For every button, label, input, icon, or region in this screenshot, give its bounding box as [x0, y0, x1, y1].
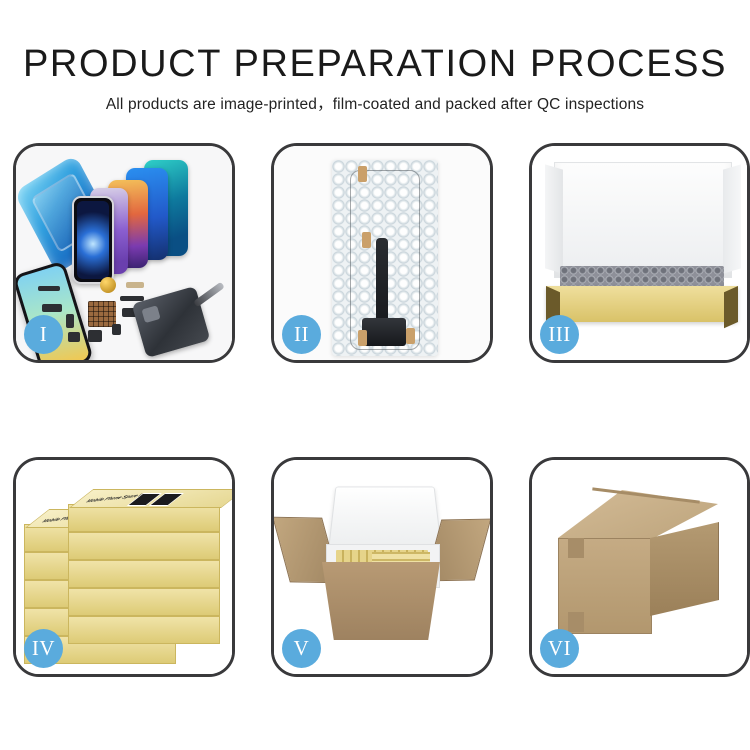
flex-cable-part	[126, 282, 144, 288]
small-part	[66, 314, 74, 328]
box-lid-face: Mobile Phone Spare Parts	[69, 489, 232, 508]
tape-tab	[358, 166, 367, 182]
retail-box	[68, 532, 220, 560]
carton-tape-tab	[568, 612, 584, 632]
retail-box: Mobile Phone Spare Parts	[68, 504, 220, 532]
page-title: PRODUCT PREPARATION PROCESS	[0, 0, 750, 86]
step-badge-6: VI	[540, 629, 579, 668]
process-step-5: V	[271, 457, 493, 677]
process-step-4: Mobile Phone Spare Parts Mobile Phone Sp…	[13, 457, 235, 677]
process-step-2: II	[271, 143, 493, 363]
process-step-grid: I II III	[13, 143, 740, 677]
yellow-tray-box	[546, 286, 738, 322]
small-part	[42, 304, 62, 312]
process-step-3: III	[529, 143, 750, 363]
tape-tab	[358, 330, 367, 346]
tape-tab	[406, 328, 415, 344]
white-foam-inner-lid	[554, 162, 732, 278]
step-badge-5: V	[282, 629, 321, 668]
small-part	[112, 324, 121, 335]
step-badge-2: II	[282, 315, 321, 354]
small-part	[120, 296, 144, 301]
foam-lid	[328, 487, 442, 550]
small-part	[68, 332, 80, 342]
carton-side-face	[650, 522, 719, 616]
step-badge-1: I	[24, 315, 63, 354]
phone-glass-panel	[72, 196, 114, 284]
ic-chip-grid-part	[88, 301, 116, 327]
retail-box	[68, 588, 220, 616]
carton-tape-tab	[568, 538, 584, 558]
process-step-1: I	[13, 143, 235, 363]
process-step-6: VI	[529, 457, 750, 677]
step-badge-3: III	[540, 315, 579, 354]
carton-body	[322, 562, 440, 640]
bubble-wrap-bag	[332, 160, 438, 356]
page-subtitle: All products are image-printed，film-coat…	[0, 86, 750, 115]
tape-tab	[362, 232, 371, 248]
retail-box	[68, 560, 220, 588]
small-part	[88, 330, 102, 342]
step-badge-4: IV	[24, 629, 63, 668]
retail-box	[68, 616, 220, 644]
small-part	[38, 286, 60, 291]
page-header: PRODUCT PREPARATION PROCESS All products…	[0, 0, 750, 115]
flex-cable	[376, 238, 388, 346]
vibration-motor-part	[100, 277, 116, 293]
